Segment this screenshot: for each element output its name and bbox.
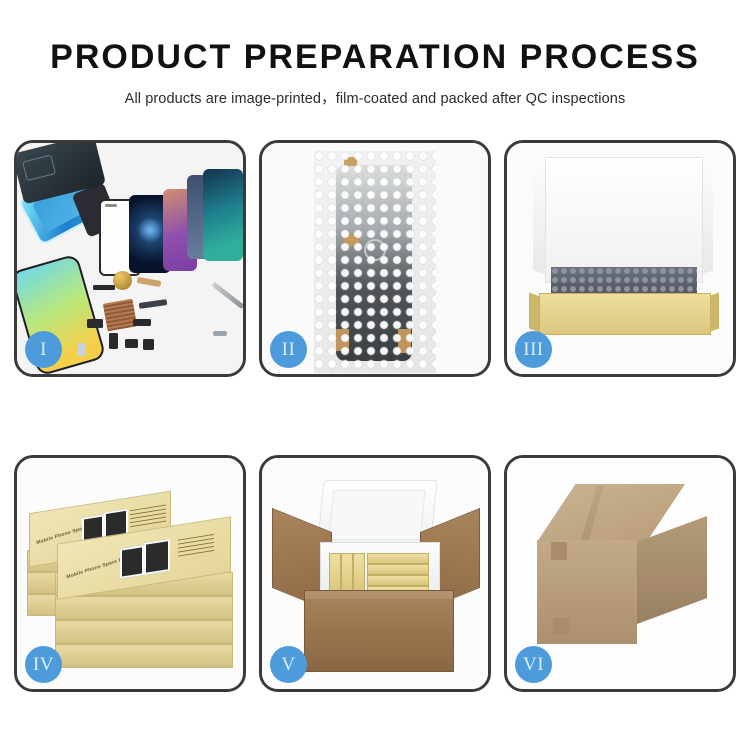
step-panel-6[interactable]: VI [504,455,736,692]
small-part-image [77,343,86,356]
small-part-image [133,319,151,326]
yellow-box-image [367,564,429,575]
step-2-photo: II [262,143,488,374]
step-5-photo: V [262,458,488,689]
yellow-box-image [329,553,341,595]
step-1-photo: I [17,143,243,374]
step-badge-3: III [515,331,552,368]
yellow-box-image [341,553,353,595]
product-preparation-page: PRODUCT PREPARATION PROCESS All products… [0,0,750,750]
product-photo-swatch [120,545,144,579]
speaker-module-image [113,271,132,290]
carton-body-image [304,590,454,672]
flex-cable-image [139,299,168,309]
small-part-image [93,285,115,290]
screwdriver-tool-image [211,282,243,309]
yellow-box-image [367,575,429,586]
page-header: PRODUCT PREPARATION PROCESS All products… [0,0,750,108]
box-stack-image: Mobile Phone Spare Parts Mobile Phone Sp… [25,476,237,680]
small-part-image [213,331,227,336]
small-part-image [125,339,138,348]
step-badge-5: V [270,646,307,683]
yellow-inner-box-image [539,293,711,335]
box-edge-image [55,620,233,644]
circuit-board-image [103,299,137,332]
small-part-image [143,339,154,350]
step-badge-2: II [270,331,307,368]
flex-cable-image [137,277,162,287]
step-badge-6: VI [515,646,552,683]
step-panel-2[interactable]: II [259,140,491,377]
carton-tape-bottom-image [553,618,569,634]
step-3-photo: III [507,143,733,374]
bubble-wrap-image [314,151,436,373]
small-part-image [87,319,103,328]
product-photo-swatch [144,539,170,575]
page-title: PRODUCT PREPARATION PROCESS [0,40,750,76]
box-edge-image [55,644,233,668]
bubble-texture [314,151,436,373]
page-subtitle: All products are image-printed，film-coat… [0,87,750,108]
yellow-box-image [353,553,365,595]
teal-phone-image [203,169,243,261]
step-panel-5[interactable]: V [259,455,491,692]
step-4-photo: Mobile Phone Spare Parts Mobile Phone Sp… [17,458,243,689]
carton-tape-top-image [551,542,567,560]
small-part-image [109,333,118,349]
box-edge-image [55,596,233,620]
step-panel-3[interactable]: III [504,140,736,377]
step-panel-4[interactable]: Mobile Phone Spare Parts Mobile Phone Sp… [14,455,246,692]
step-6-photo: VI [507,458,733,689]
process-steps-grid: I II [14,140,736,736]
step-badge-4: IV [25,646,62,683]
yellow-box-image [367,553,429,564]
step-badge-1: I [25,331,62,368]
step-panel-1[interactable]: I [14,140,246,377]
white-box-lid-image [545,157,703,283]
